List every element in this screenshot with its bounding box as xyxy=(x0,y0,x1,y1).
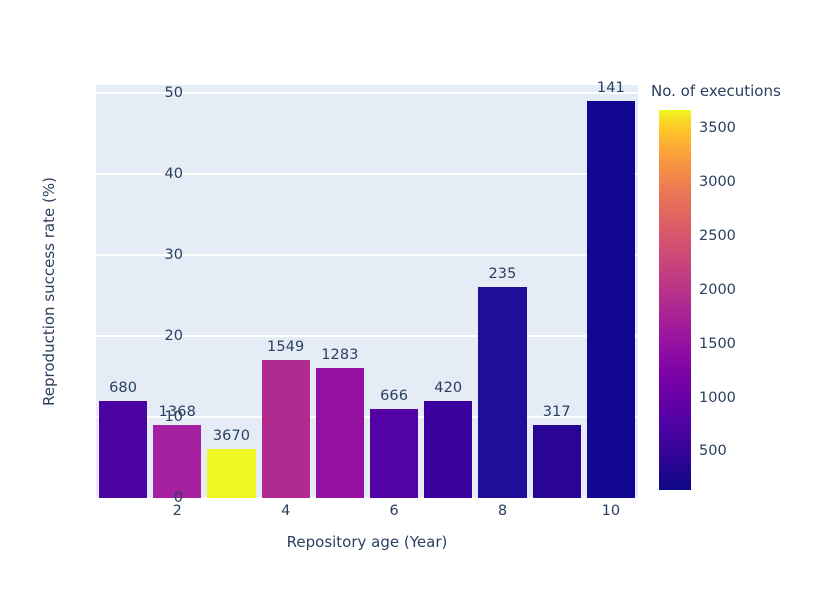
bar[interactable] xyxy=(262,360,310,498)
y-tick-label: 40 xyxy=(101,166,191,182)
bar-value-label: 680 xyxy=(96,380,150,396)
colorbar-tick-label: 2000 xyxy=(699,282,736,298)
colorbar-tick-label: 3500 xyxy=(699,120,736,136)
bar-slot: 680 xyxy=(96,85,150,498)
colorbar-tick-label: 1500 xyxy=(699,336,736,352)
bar-series: 6801368367015491283666420235317141 xyxy=(96,85,638,498)
bar[interactable] xyxy=(370,409,418,498)
x-tick-label: 6 xyxy=(364,503,424,519)
y-tick-label: 50 xyxy=(101,85,191,101)
bar-value-label: 666 xyxy=(367,388,421,404)
bar-value-label: 235 xyxy=(475,266,529,282)
bar[interactable] xyxy=(587,101,635,498)
bar[interactable] xyxy=(153,425,201,498)
bar[interactable] xyxy=(533,425,581,498)
bar[interactable] xyxy=(207,449,255,498)
bar-value-label: 420 xyxy=(421,380,475,396)
x-tick-label: 10 xyxy=(581,503,641,519)
bar-slot: 666 xyxy=(367,85,421,498)
bar-slot: 420 xyxy=(421,85,475,498)
bar-slot: 317 xyxy=(530,85,584,498)
bar-slot: 3670 xyxy=(204,85,258,498)
bar-value-label: 1283 xyxy=(313,347,367,363)
bar-value-label: 3670 xyxy=(204,428,258,444)
bar-slot: 235 xyxy=(475,85,529,498)
bar-slot: 1368 xyxy=(150,85,204,498)
bar[interactable] xyxy=(316,368,364,498)
x-tick-label: 2 xyxy=(147,503,207,519)
y-tick-label: 10 xyxy=(101,409,191,425)
bar-slot: 1283 xyxy=(313,85,367,498)
y-tick-label: 20 xyxy=(101,328,191,344)
bar[interactable] xyxy=(424,401,472,498)
x-tick-label: 4 xyxy=(256,503,316,519)
y-tick-label: 30 xyxy=(101,247,191,263)
x-tick-label: 8 xyxy=(473,503,533,519)
y-axis-label: Reproduction success rate (%) xyxy=(40,85,58,498)
colorbar-tick-label: 2500 xyxy=(699,228,736,244)
colorbar-tick-label: 500 xyxy=(699,443,727,459)
bar-value-label: 1549 xyxy=(259,339,313,355)
colorbar-tick-label: 1000 xyxy=(699,390,736,406)
colorbar-tick-label: 3000 xyxy=(699,174,736,190)
colorbar-title: No. of executions xyxy=(651,82,781,100)
chart-figure: 6801368367015491283666420235317141 01020… xyxy=(0,0,831,593)
bar-slot: 1549 xyxy=(259,85,313,498)
bar[interactable] xyxy=(478,287,526,498)
x-axis-label: Repository age (Year) xyxy=(96,533,638,551)
bar-value-label: 141 xyxy=(584,80,638,96)
bar-slot: 141 xyxy=(584,85,638,498)
colorbar-gradient xyxy=(659,110,691,490)
bar-value-label: 317 xyxy=(530,404,584,420)
